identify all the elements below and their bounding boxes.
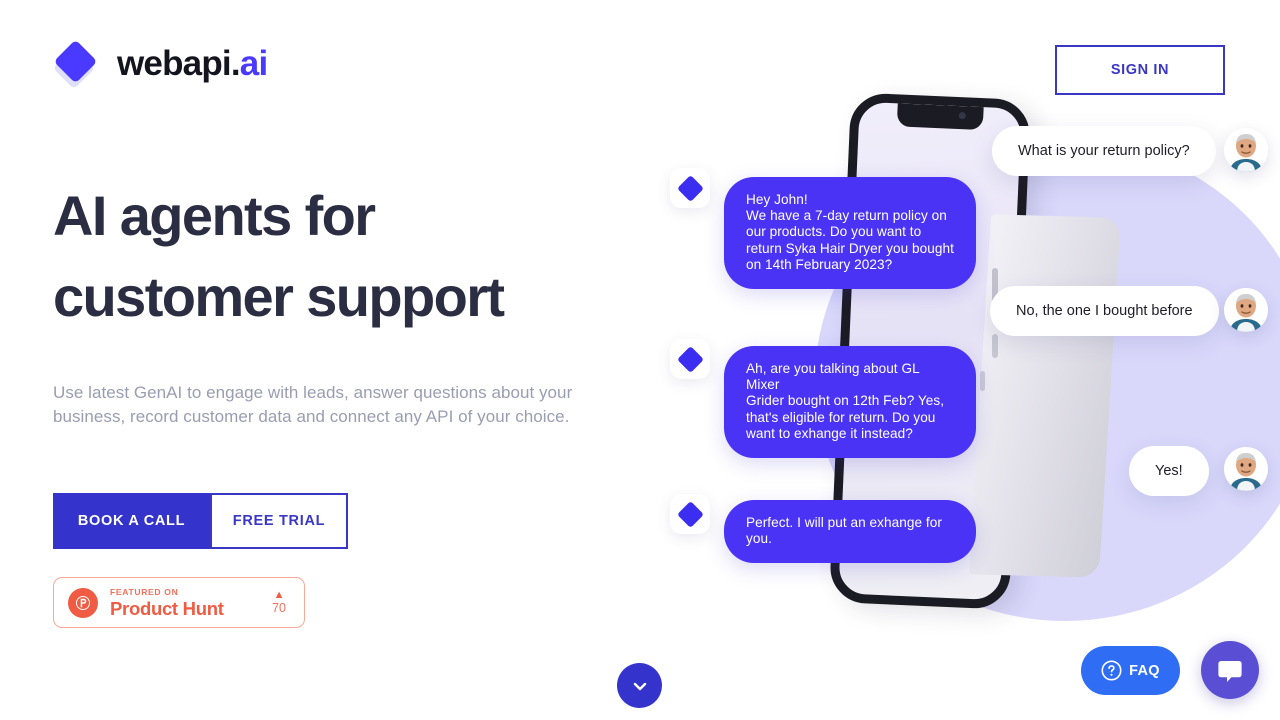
phone-volume-button-2 (992, 334, 998, 358)
faq-button[interactable]: FAQ (1081, 646, 1180, 695)
chat-bubble-bot: Hey John! We have a 7-day return policy … (724, 177, 976, 289)
hero-subtitle: Use latest GenAI to engage with leads, a… (53, 381, 613, 429)
faq-label: FAQ (1129, 663, 1160, 679)
landing-page: webapi.ai SIGN IN AI agents for customer… (0, 0, 1280, 720)
hero-title-line-2: customer support (53, 256, 653, 337)
avatar (1224, 128, 1268, 172)
product-hunt-logo-icon (68, 588, 98, 618)
brand-dot: . (231, 44, 240, 83)
page-title: AI agents for customer support (53, 175, 653, 337)
avatar (1224, 288, 1268, 332)
phone-notch (897, 103, 984, 130)
chat-bubble-user: Yes! (1129, 446, 1209, 496)
brand-tld: ai (240, 44, 268, 83)
cta-button-group: BOOK A CALL FREE TRIAL (53, 493, 653, 549)
hero-content: AI agents for customer support Use lates… (53, 175, 653, 628)
product-hunt-text: FEATURED ON Product Hunt (110, 587, 272, 619)
scroll-down-button[interactable] (617, 663, 662, 708)
phone-power-button (980, 371, 985, 391)
chevron-down-icon (631, 677, 649, 695)
brand-logo[interactable]: webapi.ai (53, 41, 267, 87)
bot-avatar-badge (670, 339, 710, 379)
chat-bubble-bot: Ah, are you talking about GL Mixer Gride… (724, 346, 976, 458)
brand-wordmark: webapi.ai (117, 44, 267, 84)
brand-name: webapi (117, 44, 231, 83)
free-trial-button[interactable]: FREE TRIAL (210, 493, 348, 549)
upvote-count: 70 (272, 601, 286, 615)
bot-avatar-badge (670, 168, 710, 208)
diamond-logo-icon (53, 41, 99, 87)
chat-bubble-icon (1216, 656, 1244, 684)
product-hunt-badge[interactable]: FEATURED ON Product Hunt ▲ 70 (53, 577, 305, 628)
avatar (1224, 447, 1268, 491)
product-hunt-featured-label: FEATURED ON (110, 587, 272, 598)
chat-bubble-user: No, the one I bought before (990, 286, 1219, 336)
product-hunt-name: Product Hunt (110, 598, 272, 619)
hero-illustration: Hey John! We have a 7-day return policy … (640, 86, 1280, 606)
chat-bubble-bot: Perfect. I will put an exhange for you. (724, 500, 976, 563)
upvote-arrow-icon: ▲ (272, 590, 286, 601)
chat-bubble-user: What is your return policy? (992, 126, 1216, 176)
question-circle-icon (1101, 660, 1122, 681)
product-hunt-upvote[interactable]: ▲ 70 (272, 590, 290, 615)
bot-avatar-badge (670, 494, 710, 534)
chat-widget-button[interactable] (1201, 641, 1259, 699)
hero-title-line-1: AI agents for (53, 175, 653, 256)
book-a-call-button[interactable]: BOOK A CALL (53, 493, 210, 549)
